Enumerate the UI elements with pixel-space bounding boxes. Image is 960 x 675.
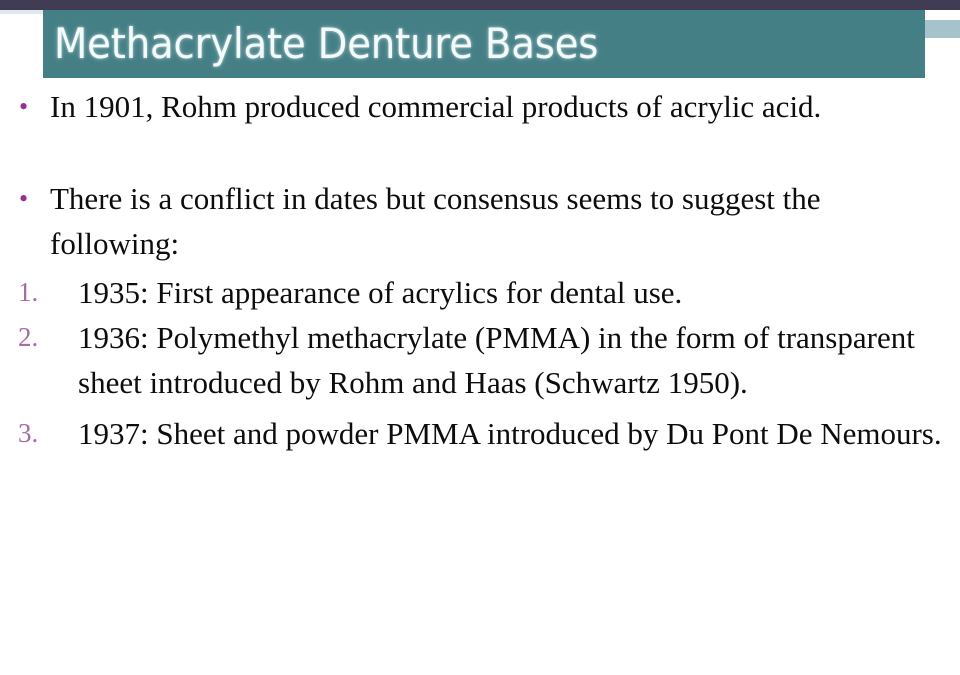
- numbered-list-item-label: 1937: Sheet and powder PMMA introduced b…: [78, 411, 960, 456]
- numbered-list-item: 3. 1937: Sheet and powder PMMA introduce…: [0, 411, 960, 456]
- list-number: 1.: [18, 270, 66, 315]
- page-title: Methacrylate Denture Bases: [54, 21, 598, 67]
- top-navy-strip: [0, 0, 960, 10]
- slide-title-bar: Methacrylate Denture Bases: [43, 10, 925, 78]
- right-accent-bar: [925, 20, 960, 38]
- list-item: • In 1901, Rohm produced commercial prod…: [0, 84, 960, 129]
- numbered-list-item: 2. 1936: Polymethyl methacrylate (PMMA) …: [0, 315, 960, 405]
- bullet-icon: •: [19, 176, 28, 221]
- list-item-label: There is a conflict in dates but consens…: [50, 176, 960, 266]
- numbered-list-item-label: 1936: Polymethyl methacrylate (PMMA) in …: [78, 315, 960, 405]
- list-item: • There is a conflict in dates but conse…: [0, 176, 960, 266]
- list-item-label: In 1901, Rohm produced commercial produc…: [50, 84, 960, 129]
- list-number: 2.: [18, 315, 66, 360]
- bullet-icon: •: [19, 84, 28, 129]
- slide-canvas: Methacrylate Denture Bases • In 1901, Ro…: [0, 0, 960, 675]
- slide-body: • In 1901, Rohm produced commercial prod…: [0, 84, 960, 675]
- list-number: 3.: [18, 411, 66, 456]
- numbered-list-item: 1. 1935: First appearance of acrylics fo…: [0, 270, 960, 315]
- left-edge-notch: [0, 10, 43, 14]
- spacer: [0, 129, 960, 176]
- numbered-list-item-label: 1935: First appearance of acrylics for d…: [78, 270, 960, 315]
